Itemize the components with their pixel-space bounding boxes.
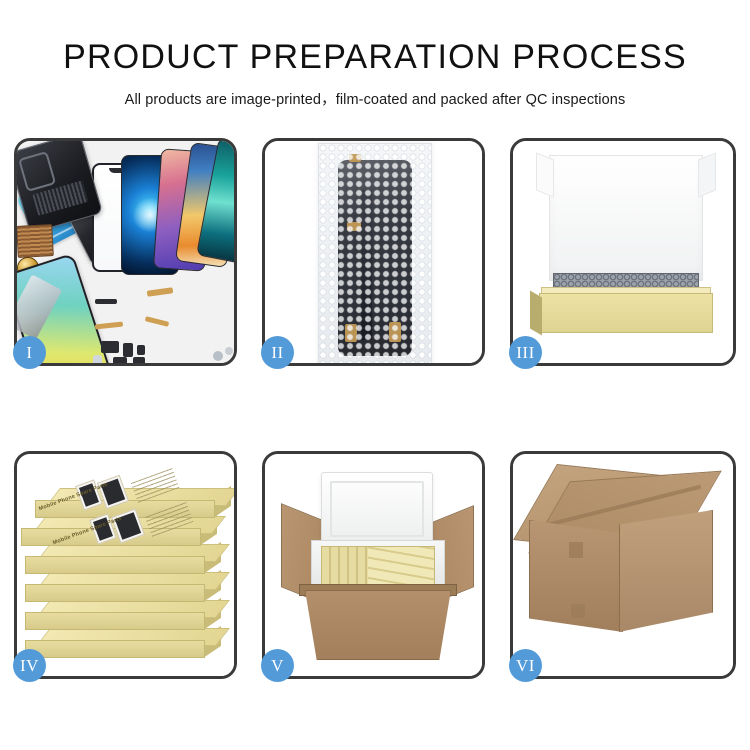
process-step-2: II xyxy=(262,138,485,366)
adhesive-tab xyxy=(345,324,357,342)
carton-with-foam-insert-image xyxy=(265,454,482,676)
retail-box xyxy=(25,572,221,598)
process-step-3: III xyxy=(510,138,736,366)
adhesive-tab xyxy=(389,322,401,342)
carton-handle-tab xyxy=(571,604,585,618)
small-part xyxy=(101,341,119,353)
step-badge-1: I xyxy=(13,336,46,369)
page-subtitle: All products are image-printed，film-coat… xyxy=(0,88,750,109)
carton-handle-tab xyxy=(569,542,583,558)
foam-box-lid xyxy=(321,472,433,546)
small-screw xyxy=(213,351,223,361)
step-badge-2: II xyxy=(261,336,294,369)
flex-cable xyxy=(95,322,123,330)
retail-box xyxy=(25,600,221,626)
small-screw xyxy=(225,347,233,355)
bubble-wrap-bag xyxy=(318,143,432,363)
retail-box xyxy=(25,628,221,654)
small-part xyxy=(123,343,133,357)
small-part xyxy=(133,357,145,363)
process-step-6: VI xyxy=(510,451,736,679)
step-badge-3: III xyxy=(509,336,542,369)
step-badge-4: IV xyxy=(13,649,46,682)
open-flat-box-image xyxy=(513,141,733,363)
carton-front-panel xyxy=(305,590,451,660)
process-steps-grid: I II III xyxy=(14,138,736,679)
small-part xyxy=(137,345,145,355)
box-stack: Mobile Phone Spare Parts Mobile Phone Sp… xyxy=(25,476,231,666)
process-step-5: V xyxy=(262,451,485,679)
process-step-4: Mobile Phone Spare Parts Mobile Phone Sp… xyxy=(14,451,237,679)
small-part xyxy=(95,299,117,304)
logic-board-chip xyxy=(17,224,54,258)
page-title: PRODUCT PREPARATION PROCESS xyxy=(0,40,750,74)
phone-parts-overview-image xyxy=(17,141,234,363)
flex-cable xyxy=(145,316,169,327)
process-step-1: I xyxy=(14,138,237,366)
stacked-retail-boxes-image: Mobile Phone Spare Parts Mobile Phone Sp… xyxy=(17,454,234,676)
carton-right-face xyxy=(619,510,713,632)
sealed-shipping-carton-image xyxy=(513,454,733,676)
flex-ribbon xyxy=(361,190,372,340)
step-badge-5: V xyxy=(261,649,294,682)
step-badge-6: VI xyxy=(509,649,542,682)
adhesive-tab xyxy=(349,154,361,162)
page-header: PRODUCT PREPARATION PROCESS All products… xyxy=(0,0,750,109)
box-front-panel xyxy=(539,293,713,333)
small-part xyxy=(113,357,127,363)
bubble-wrapped-part-image xyxy=(265,141,482,363)
packed-retail-boxes xyxy=(321,546,435,588)
small-part xyxy=(93,355,102,363)
flex-cable xyxy=(147,287,174,297)
retail-box xyxy=(25,544,221,570)
box-lid xyxy=(549,155,703,281)
adhesive-tab xyxy=(347,222,361,231)
